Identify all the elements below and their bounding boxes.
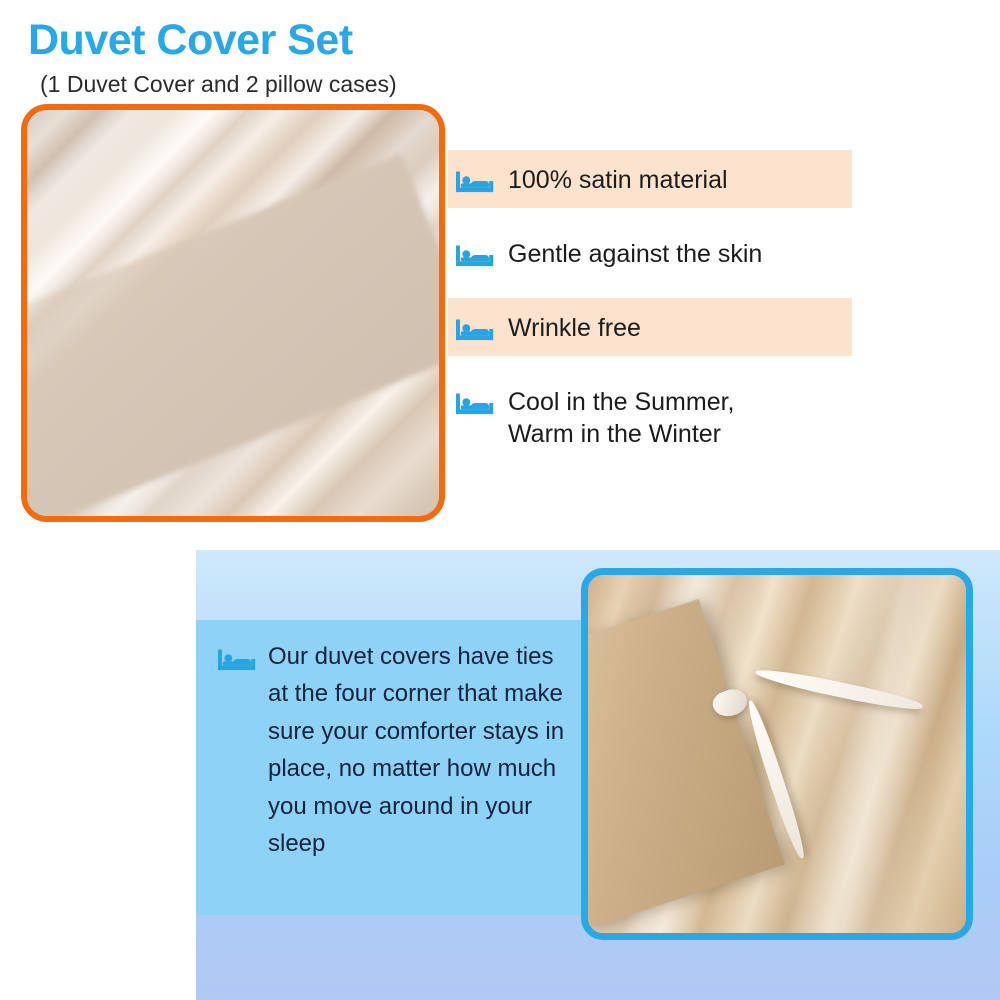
bed-icon — [456, 242, 494, 268]
duvet-corner-tie-photo — [581, 568, 973, 940]
bed-icon — [456, 168, 494, 194]
feature-item-cool-warm: Cool in the Summer, Warm in the Winter — [448, 372, 852, 462]
feature-label: 100% satin material — [508, 162, 728, 196]
bed-icon — [456, 316, 494, 342]
feature-label: Wrinkle free — [508, 310, 641, 344]
page-title: Duvet Cover Set — [28, 16, 353, 65]
bed-icon — [218, 646, 256, 672]
feature-item-gentle-skin: Gentle against the skin — [448, 224, 852, 282]
bed-icon — [456, 390, 494, 416]
tie-feature-panel: Our duvet covers have ties at the four c… — [196, 550, 1000, 1000]
satin-fabric-photo — [21, 104, 445, 522]
top-section: Duvet Cover Set (1 Duvet Cover and 2 pil… — [0, 0, 1000, 550]
tie-text-block: Our duvet covers have ties at the four c… — [196, 620, 584, 915]
feature-item-satin-material: 100% satin material — [448, 150, 852, 208]
feature-label: Gentle against the skin — [508, 236, 762, 270]
feature-list: 100% satin material Gentle against the s… — [448, 150, 852, 478]
tie-description-text: Our duvet covers have ties at the four c… — [268, 638, 568, 863]
page-subtitle: (1 Duvet Cover and 2 pillow cases) — [40, 71, 397, 98]
feature-item-wrinkle-free: Wrinkle free — [448, 298, 852, 356]
feature-label: Cool in the Summer, Warm in the Winter — [508, 384, 735, 450]
